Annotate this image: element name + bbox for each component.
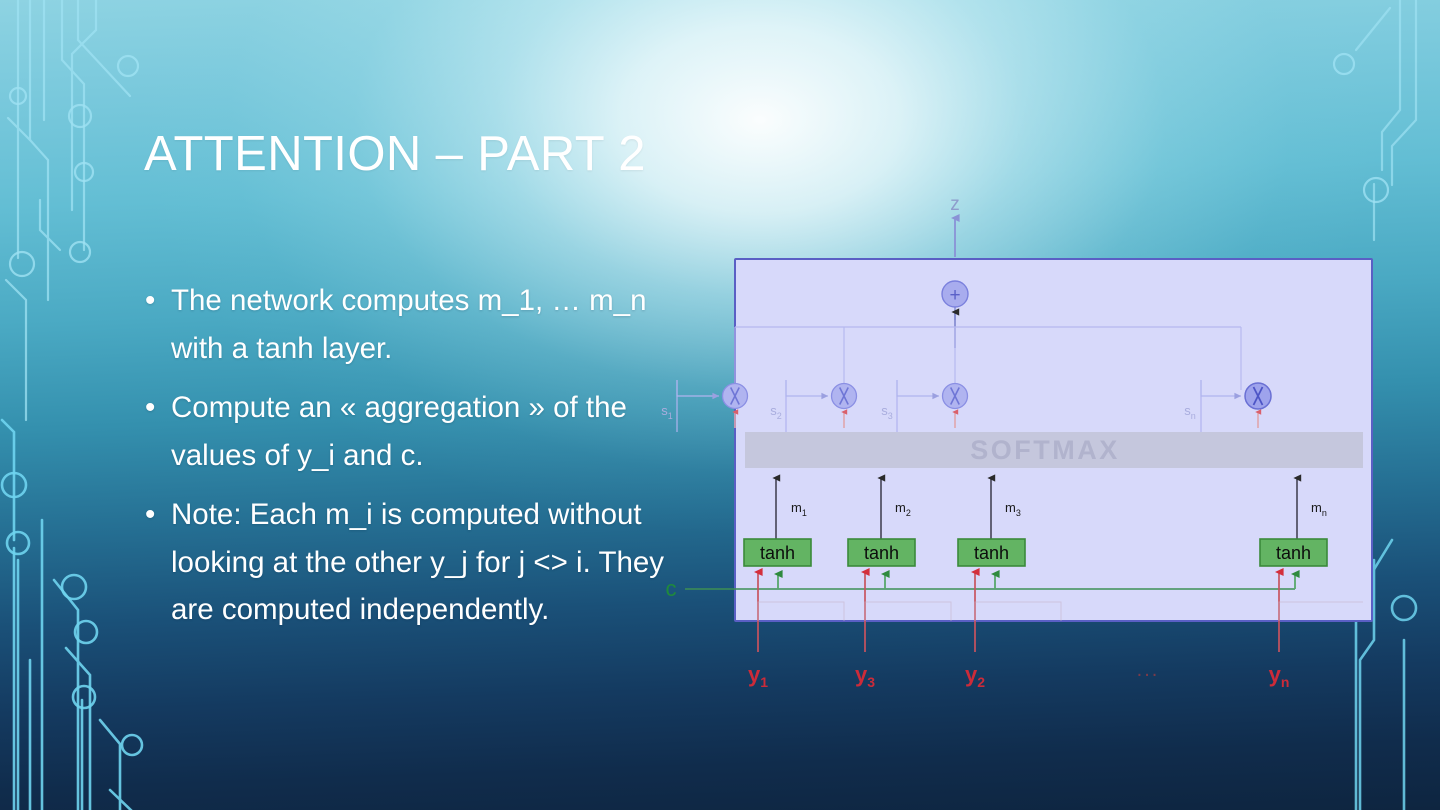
tanh-label-2: tanh — [864, 543, 899, 563]
input-label-y2: y2 — [965, 662, 985, 690]
input-label-yn: yn — [1269, 662, 1290, 690]
input-label-y3: y3 — [855, 662, 875, 690]
bullet-text-1: The network computes m_1, … m_n with a t… — [171, 284, 646, 365]
bullet-list: • The network computes m_1, … m_n with a… — [142, 277, 698, 646]
tanh-label-n: tanh — [1276, 543, 1311, 563]
slide-canvas: ATTENTION – PART 2 • The network compute… — [0, 0, 1440, 810]
tanh-label-3: tanh — [974, 543, 1009, 563]
softmax-to-multiply-1 — [677, 380, 719, 396]
input-ellipsis: ... — [1137, 659, 1160, 681]
input-label-y1: y1 — [748, 662, 768, 690]
bullet-item-2: • Compute an « aggregation » of the valu… — [142, 384, 698, 479]
attention-network-diagram: z + s1 — [645, 182, 1405, 702]
bullet-marker-icon: • — [145, 277, 155, 325]
page-title: ATTENTION – PART 2 — [144, 126, 646, 182]
bullet-item-3: • Note: Each m_i is computed without loo… — [142, 491, 698, 634]
score-label-1: s1 — [661, 403, 673, 421]
bullet-item-1: • The network computes m_1, … m_n with a… — [142, 277, 698, 372]
bullet-text-2: Compute an « aggregation » of the values… — [171, 391, 627, 472]
sum-node-symbol: + — [949, 285, 960, 306]
bullet-marker-icon: • — [145, 491, 155, 539]
bullet-text-3: Note: Each m_i is computed without looki… — [171, 498, 664, 626]
bullet-marker-icon: • — [145, 384, 155, 432]
output-label-z: z — [950, 194, 960, 215]
tanh-label-1: tanh — [760, 543, 795, 563]
softmax-label: SOFTMAX — [970, 435, 1120, 465]
context-label-c: c — [666, 576, 677, 601]
